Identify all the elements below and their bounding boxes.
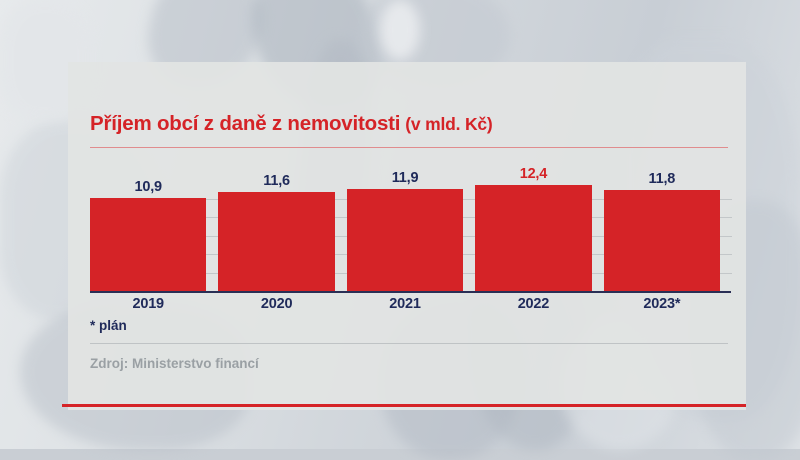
bar-column[interactable]: 11,9 (347, 180, 463, 291)
bar-column[interactable]: 11,8 (604, 180, 720, 291)
bar[interactable] (604, 190, 720, 291)
x-axis-label: 2023* (604, 296, 720, 312)
chart-title-main: Příjem obcí z daně z nemovitosti (90, 112, 400, 135)
chart-title: Příjem obcí z daně z nemovitosti(v mld. … (90, 114, 493, 135)
map-shape (380, 0, 420, 60)
bar-series: 10,911,611,912,411,8 (90, 180, 720, 291)
bar-column[interactable]: 11,6 (218, 180, 334, 291)
x-axis-label: 2022 (475, 296, 591, 312)
bar-column[interactable]: 10,9 (90, 180, 206, 291)
x-axis-labels: 20192020202120222023* (90, 296, 720, 312)
bar[interactable] (90, 198, 206, 291)
bar[interactable] (347, 189, 463, 291)
bar-value-label: 11,9 (347, 170, 463, 186)
source-divider (90, 343, 728, 344)
x-axis-label: 2021 (347, 296, 463, 312)
title-divider (90, 147, 728, 148)
plot-area: 10,911,611,912,411,8 (90, 180, 732, 291)
bar[interactable] (475, 185, 591, 291)
chart-title-unit: (v mld. Kč) (405, 114, 492, 134)
bar-value-label: 11,6 (218, 173, 334, 189)
bar-value-label: 10,9 (90, 179, 206, 195)
source-label: Zdroj: Ministerstvo financí (90, 356, 259, 371)
x-axis-label: 2019 (90, 296, 206, 312)
bar-column[interactable]: 12,4 (475, 180, 591, 291)
bar-value-label: 12,4 (475, 166, 591, 182)
bar[interactable] (218, 192, 334, 291)
chart-panel: Příjem obcí z daně z nemovitosti(v mld. … (68, 62, 746, 410)
bar-value-label: 11,8 (604, 171, 720, 187)
footnote: * plán (90, 318, 127, 333)
bottom-accent-rule (62, 404, 746, 407)
x-axis-line (90, 291, 731, 293)
x-axis-label: 2020 (218, 296, 334, 312)
